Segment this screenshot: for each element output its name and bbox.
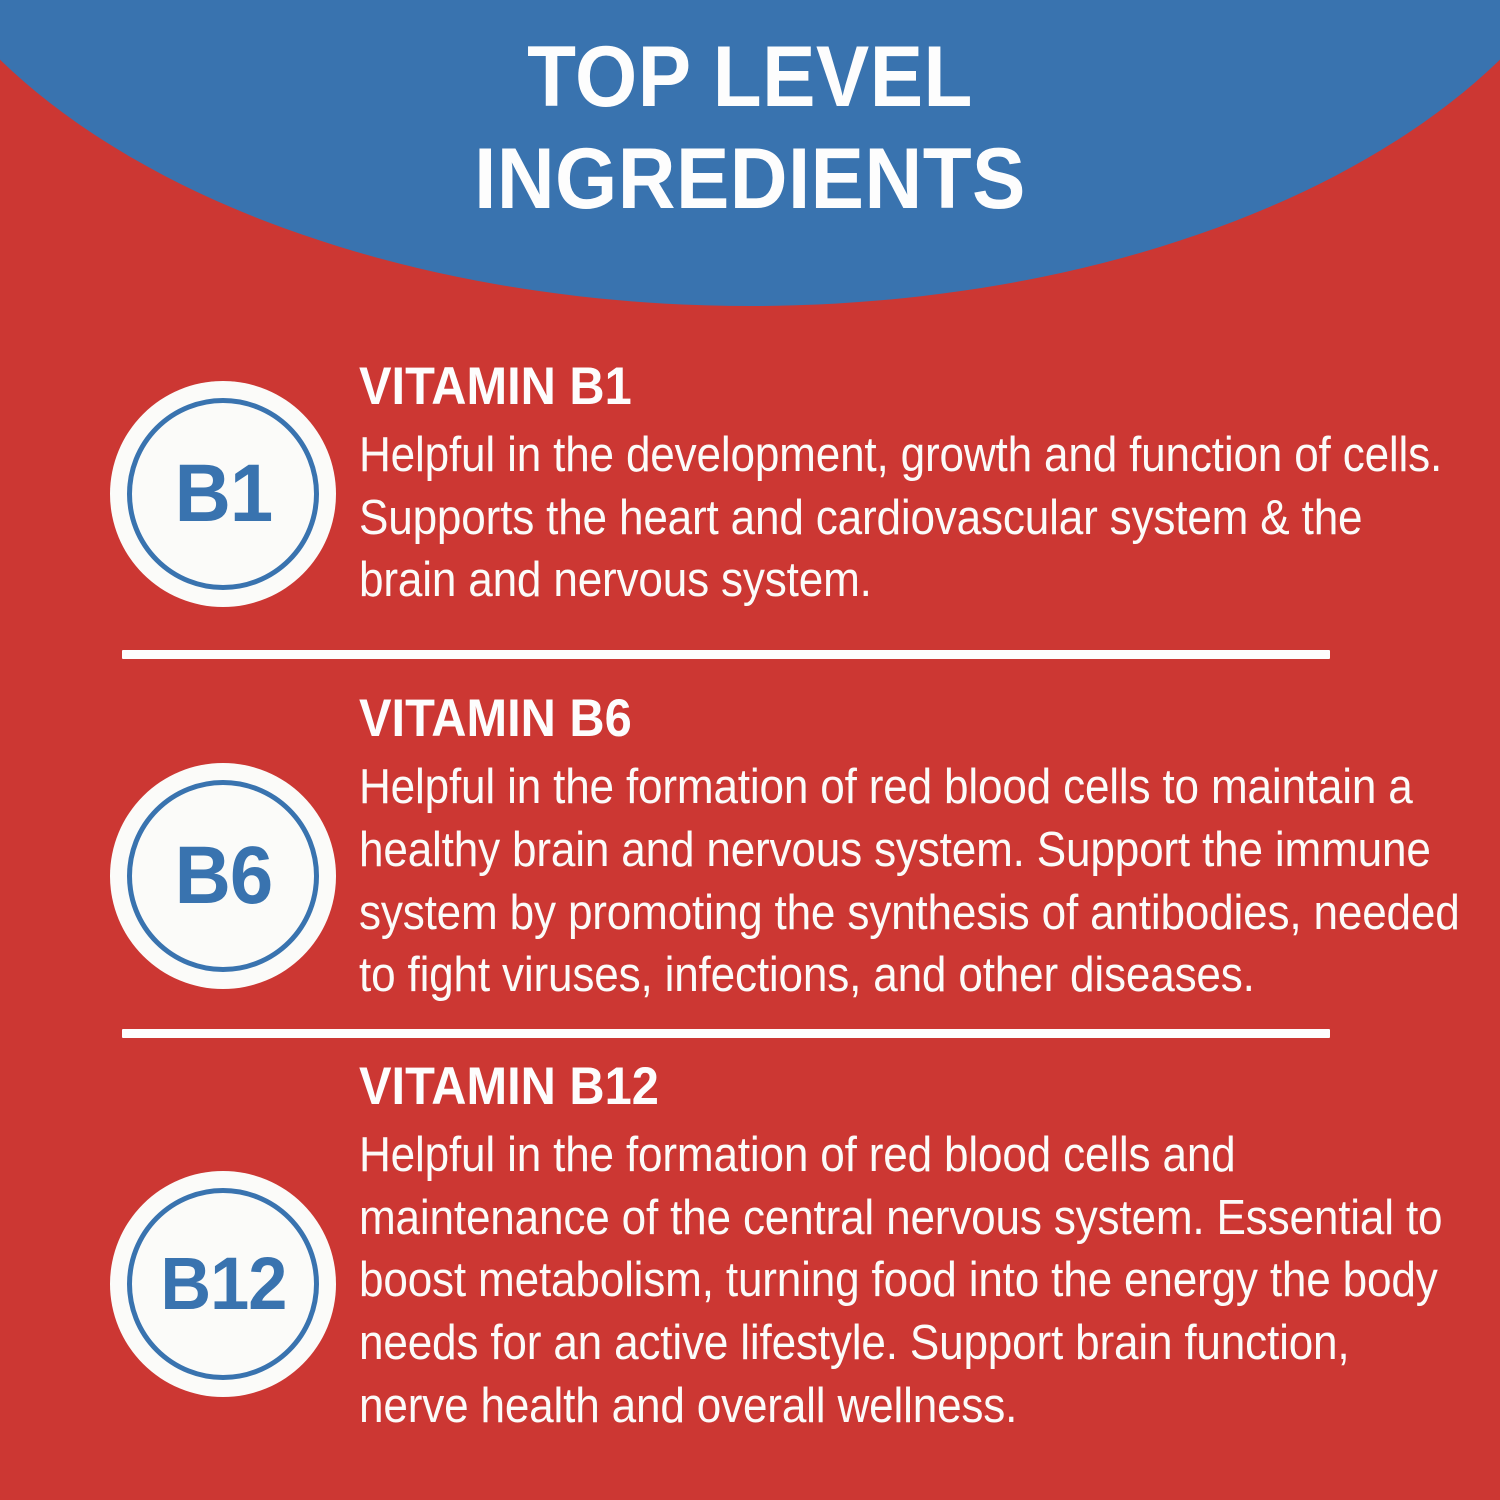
section-divider-1 (122, 650, 1330, 659)
badge-column-b6: B6 (110, 692, 336, 1007)
badge-label-b6: B6 (174, 835, 272, 917)
ingredient-description-b1: Helpful in the development, growth and f… (359, 424, 1469, 612)
ingredient-title-b1: VITAMIN B1 (359, 360, 1381, 413)
badge-column-b1: B1 (110, 360, 336, 612)
vitamin-b1-badge-icon: B1 (110, 381, 336, 607)
ingredient-title-b12: VITAMIN B12 (359, 1060, 1381, 1113)
text-column-b12: VITAMIN B12 Helpful in the formation of … (336, 1060, 1500, 1438)
badge-label-b1: B1 (174, 453, 272, 535)
page-title: TOP LEVEL INGREDIENTS (53, 26, 1448, 231)
ingredient-title-b6: VITAMIN B6 (359, 692, 1381, 745)
ingredients-infographic: TOP LEVEL INGREDIENTS B1 VITAMIN B1 Help… (0, 0, 1500, 1500)
section-divider-2 (122, 1029, 1330, 1038)
ingredient-item-b12: B12 VITAMIN B12 Helpful in the formation… (0, 1038, 1500, 1438)
badge-column-b12: B12 (110, 1060, 336, 1438)
ingredient-description-b6: Helpful in the formation of red blood ce… (359, 756, 1469, 1007)
text-column-b6: VITAMIN B6 Helpful in the formation of r… (336, 692, 1500, 1007)
ingredients-list: B1 VITAMIN B1 Helpful in the development… (0, 330, 1500, 1438)
ingredient-item-b1: B1 VITAMIN B1 Helpful in the development… (0, 330, 1500, 612)
page-title-line-1: TOP LEVEL (53, 26, 1448, 128)
vitamin-b12-badge-icon: B12 (110, 1171, 336, 1397)
vitamin-b6-badge-icon: B6 (110, 763, 336, 989)
badge-label-b12: B12 (160, 1247, 286, 1321)
ingredient-item-b6: B6 VITAMIN B6 Helpful in the formation o… (0, 659, 1500, 1007)
ingredient-description-b12: Helpful in the formation of red blood ce… (359, 1124, 1469, 1438)
page-title-line-2: INGREDIENTS (53, 128, 1448, 230)
text-column-b1: VITAMIN B1 Helpful in the development, g… (336, 360, 1500, 612)
